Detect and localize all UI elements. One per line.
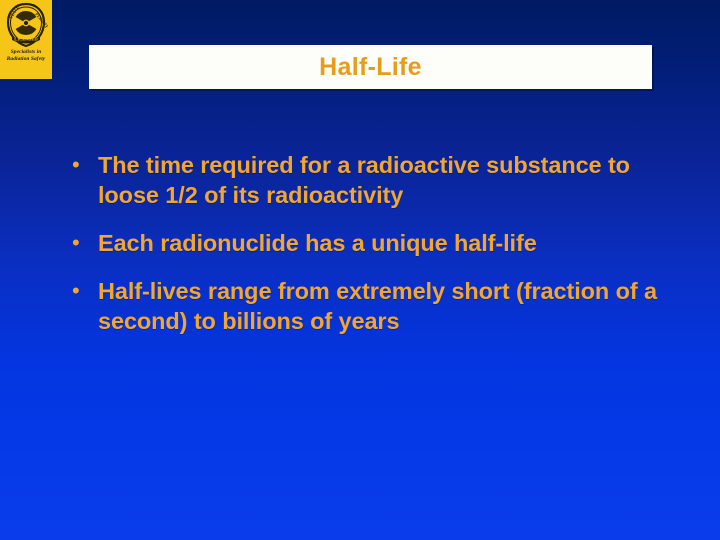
- logo-caption-line2: Radiation Safety: [0, 56, 52, 63]
- company-logo: STATE PERMIT LICENSED Specialists in Rad…: [0, 0, 52, 79]
- title-panel: Half-Life: [89, 45, 652, 89]
- radiation-badge-icon: STATE PERMIT LICENSED: [4, 2, 48, 48]
- bullet-marker-icon: •: [66, 150, 98, 180]
- bullet-text: Each radionuclide has a unique half-life: [98, 228, 676, 258]
- logo-caption-line1: Specialists in: [0, 49, 52, 56]
- slide-canvas: STATE PERMIT LICENSED Specialists in Rad…: [0, 0, 720, 540]
- bullet-text: Half-lives range from extremely short (f…: [98, 276, 676, 336]
- list-item: • Each radionuclide has a unique half-li…: [66, 228, 676, 258]
- bullet-text: The time required for a radioactive subs…: [98, 150, 676, 210]
- bullet-marker-icon: •: [66, 228, 98, 258]
- list-item: • Half-lives range from extremely short …: [66, 276, 676, 336]
- bullet-marker-icon: •: [66, 276, 98, 306]
- logo-caption: Specialists in Radiation Safety: [0, 49, 52, 62]
- svg-text:LICENSED: LICENSED: [14, 36, 38, 41]
- bullet-list: • The time required for a radioactive su…: [66, 150, 676, 336]
- list-item: • The time required for a radioactive su…: [66, 150, 676, 210]
- slide-title: Half-Life: [319, 53, 422, 82]
